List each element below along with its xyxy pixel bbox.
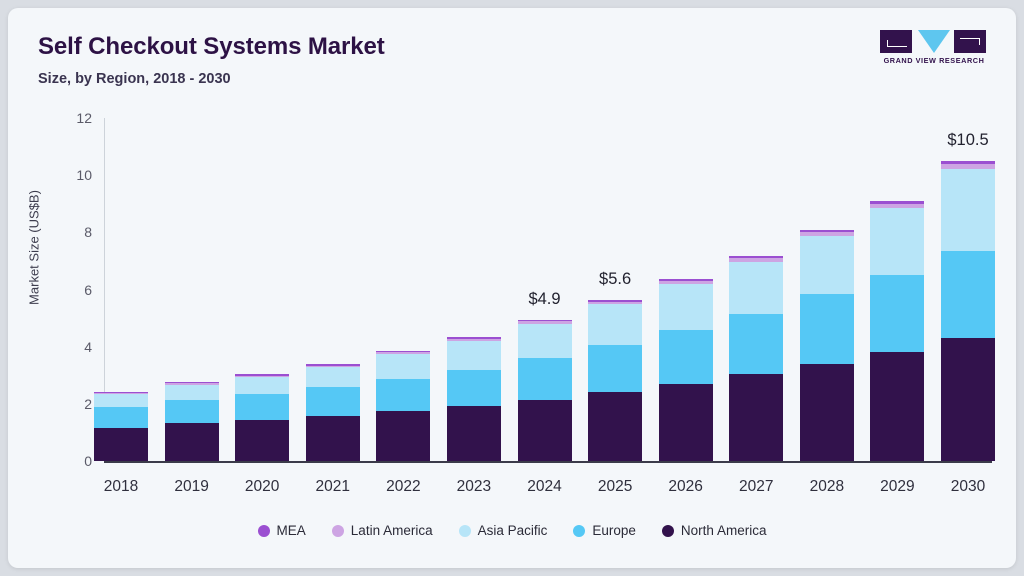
bar-segment[interactable] — [94, 407, 148, 428]
bar-segment[interactable] — [165, 383, 219, 384]
bar-2023[interactable] — [447, 118, 501, 461]
bar-2030[interactable] — [941, 118, 995, 461]
bar-segment[interactable] — [447, 370, 501, 406]
bar-segment[interactable] — [235, 394, 289, 420]
legend-item-europe[interactable]: Europe — [573, 523, 636, 538]
legend-swatch-icon — [459, 525, 471, 537]
bar-segment[interactable] — [447, 341, 501, 370]
x-axis-tick-label: 2026 — [668, 478, 702, 496]
bar-segment[interactable] — [235, 376, 289, 377]
legend-item-latin-america[interactable]: Latin America — [332, 523, 433, 538]
bar-segment[interactable] — [94, 394, 148, 407]
bar-value-label: $5.6 — [599, 270, 631, 289]
bar-segment[interactable] — [518, 358, 572, 399]
bar-segment[interactable] — [165, 400, 219, 423]
bar-2025[interactable] — [588, 118, 642, 461]
bar-segment[interactable] — [870, 275, 924, 352]
legend-item-label: MEA — [277, 523, 306, 538]
bar-segment[interactable] — [659, 279, 713, 281]
bar-value-label: $4.9 — [528, 290, 560, 309]
legend-item-label: North America — [681, 523, 767, 538]
legend-swatch-icon — [662, 525, 674, 537]
x-axis-tick-label: 2028 — [810, 478, 844, 496]
bar-value-label: $10.5 — [947, 131, 988, 150]
bar-segment[interactable] — [659, 284, 713, 330]
bar-segment[interactable] — [870, 208, 924, 274]
bar-segment[interactable] — [306, 387, 360, 416]
bar-2021[interactable] — [306, 118, 360, 461]
bar-segment[interactable] — [659, 384, 713, 461]
chart-plot-area: Market Size (US$B) 024681012 20182019202… — [8, 8, 1016, 568]
bar-2026[interactable] — [659, 118, 713, 461]
bar-segment[interactable] — [870, 204, 924, 208]
bars-layer — [8, 118, 1016, 461]
legend-item-north-america[interactable]: North America — [662, 523, 767, 538]
bar-2020[interactable] — [235, 118, 289, 461]
bar-segment[interactable] — [659, 281, 713, 284]
bar-segment[interactable] — [800, 364, 854, 461]
bar-segment[interactable] — [941, 161, 995, 164]
bar-segment[interactable] — [941, 251, 995, 338]
bar-segment[interactable] — [518, 324, 572, 359]
bar-segment[interactable] — [306, 364, 360, 365]
legend-item-label: Europe — [592, 523, 636, 538]
bar-segment[interactable] — [376, 411, 430, 461]
bar-segment[interactable] — [376, 379, 430, 411]
bar-segment[interactable] — [376, 351, 430, 352]
legend-swatch-icon — [332, 525, 344, 537]
bar-segment[interactable] — [941, 338, 995, 461]
legend-swatch-icon — [573, 525, 585, 537]
bar-segment[interactable] — [941, 169, 995, 251]
legend-item-mea[interactable]: MEA — [258, 523, 306, 538]
bar-segment[interactable] — [447, 337, 501, 338]
bar-segment[interactable] — [376, 354, 430, 378]
bar-segment[interactable] — [729, 256, 783, 258]
x-axis-tick-label: 2021 — [316, 478, 350, 496]
bar-segment[interactable] — [306, 366, 360, 368]
x-axis-tick-label: 2020 — [245, 478, 279, 496]
x-axis-tick-label: 2018 — [104, 478, 138, 496]
x-axis-line — [104, 461, 992, 463]
x-axis-tick-label: 2023 — [457, 478, 491, 496]
bar-2018[interactable] — [94, 118, 148, 461]
bar-segment[interactable] — [729, 262, 783, 314]
bar-segment[interactable] — [518, 321, 572, 324]
bar-segment[interactable] — [588, 302, 642, 305]
x-axis-tick-label: 2029 — [880, 478, 914, 496]
legend-item-label: Latin America — [351, 523, 433, 538]
bar-segment[interactable] — [870, 352, 924, 461]
bar-segment[interactable] — [235, 377, 289, 394]
chart-card: Self Checkout Systems Market Size, by Re… — [8, 8, 1016, 568]
bar-segment[interactable] — [588, 300, 642, 302]
chart-legend: MEALatin AmericaAsia PacificEuropeNorth … — [8, 523, 1016, 538]
bar-segment[interactable] — [729, 258, 783, 261]
x-axis-tick-label: 2022 — [386, 478, 420, 496]
legend-item-asia-pacific[interactable]: Asia Pacific — [459, 523, 548, 538]
bar-segment[interactable] — [659, 330, 713, 384]
bar-segment[interactable] — [165, 385, 219, 400]
bar-segment[interactable] — [165, 423, 219, 461]
bar-segment[interactable] — [94, 428, 148, 461]
legend-item-label: Asia Pacific — [478, 523, 548, 538]
x-axis-tick-label: 2027 — [739, 478, 773, 496]
x-axis-tick-label: 2030 — [951, 478, 985, 496]
bar-2029[interactable] — [870, 118, 924, 461]
legend-swatch-icon — [258, 525, 270, 537]
bar-segment[interactable] — [800, 294, 854, 364]
bar-2027[interactable] — [729, 118, 783, 461]
bar-segment[interactable] — [800, 236, 854, 295]
bar-segment[interactable] — [729, 314, 783, 375]
bar-segment[interactable] — [94, 393, 148, 394]
bar-segment[interactable] — [165, 382, 219, 383]
bar-2019[interactable] — [165, 118, 219, 461]
bar-segment[interactable] — [518, 400, 572, 461]
bar-segment[interactable] — [306, 367, 360, 387]
x-axis-tick-label: 2019 — [174, 478, 208, 496]
x-axis-tick-label: 2025 — [598, 478, 632, 496]
bar-segment[interactable] — [94, 392, 148, 393]
bar-segment[interactable] — [588, 345, 642, 392]
bar-segment[interactable] — [235, 374, 289, 375]
bar-segment[interactable] — [588, 304, 642, 345]
bar-segment[interactable] — [518, 320, 572, 321]
bar-2028[interactable] — [800, 118, 854, 461]
bar-segment[interactable] — [870, 201, 924, 204]
bar-segment[interactable] — [235, 420, 289, 461]
bar-segment[interactable] — [800, 230, 854, 233]
bar-segment[interactable] — [941, 164, 995, 169]
bar-segment[interactable] — [447, 339, 501, 341]
bar-segment[interactable] — [800, 232, 854, 236]
bar-segment[interactable] — [447, 406, 501, 461]
x-axis-tick-label: 2024 — [527, 478, 561, 496]
bar-segment[interactable] — [376, 352, 430, 354]
bar-segment[interactable] — [588, 392, 642, 461]
bar-segment[interactable] — [306, 416, 360, 461]
bar-2022[interactable] — [376, 118, 430, 461]
bar-segment[interactable] — [729, 374, 783, 461]
